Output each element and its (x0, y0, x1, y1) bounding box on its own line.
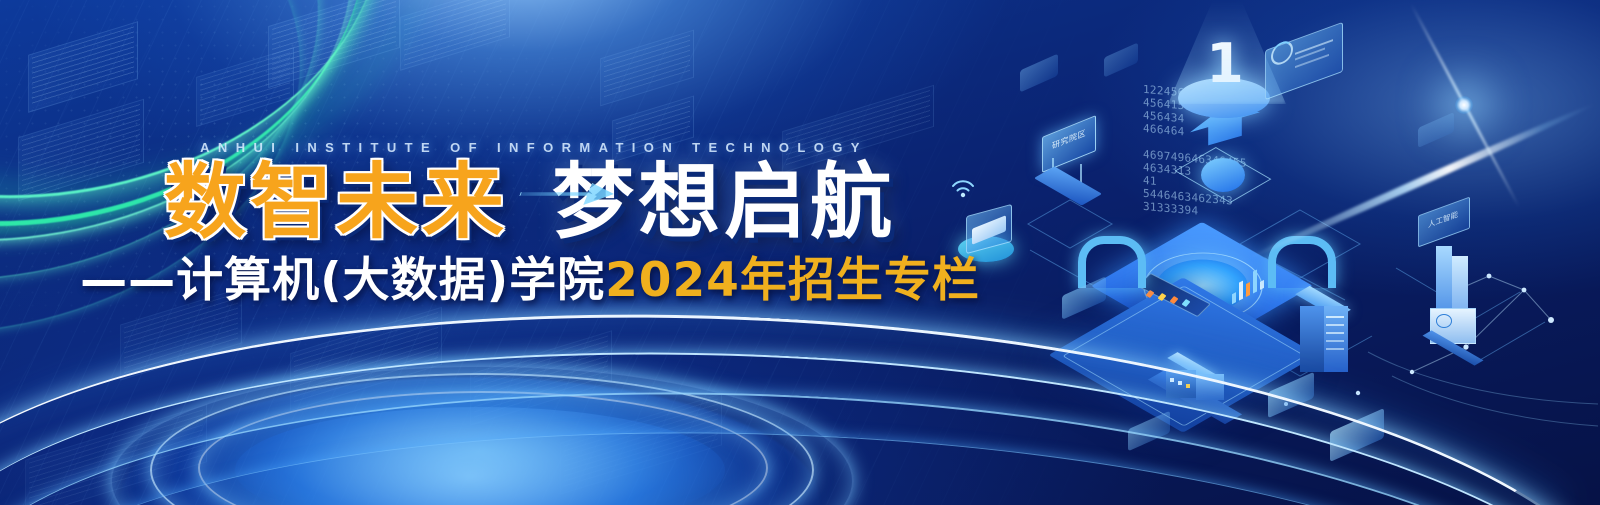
floating-card (1062, 276, 1106, 320)
headline-white: 梦想启航 (552, 155, 896, 250)
stage-inner-disc (235, 407, 725, 505)
flare-streak (1246, 100, 1596, 262)
server-rack-node (1292, 288, 1356, 396)
recruitment-banner: 122456453 456415151327685 456434 466464 … (0, 0, 1600, 505)
subline-year-column: 2024年招生专栏 (605, 253, 980, 308)
subline-department: ——计算机(大数据)学院 (80, 253, 605, 308)
floating-card (1330, 408, 1384, 462)
building-node (1152, 350, 1244, 422)
main-headline: 数智未来梦想启航 (0, 162, 1060, 244)
stage-ring (110, 365, 854, 505)
stage-glow (120, 377, 820, 505)
institute-eyebrow: ANHUI INSTITUTE OF INFORMATION TECHNOLOG… (0, 140, 1060, 155)
floating-card (1268, 372, 1314, 418)
banner-text-block: ANHUI INSTITUTE OF INFORMATION TECHNOLOG… (0, 140, 1060, 304)
signboard-right-label: 人工智能 (1423, 207, 1463, 233)
status-led (1158, 293, 1167, 301)
data-panel (560, 393, 722, 495)
stage-ring (198, 391, 768, 505)
cpu-core-platform (1118, 198, 1308, 318)
status-led-strip (1137, 273, 1211, 317)
flare-cross (1410, 3, 1521, 207)
data-panel (196, 47, 294, 127)
data-stream-digits: 122456453 456415151327685 456434 466464 … (1143, 83, 1263, 223)
database-cylinder-node (1192, 152, 1254, 198)
floating-card (1104, 42, 1138, 77)
pedestal-disc (1178, 78, 1270, 118)
upload-arrow-node (1190, 106, 1260, 154)
stage-ring (150, 373, 814, 505)
sub-headline: ——计算机(大数据)学院2024年招生专栏 (0, 257, 1060, 304)
headline-orange: 数智未来 (164, 155, 508, 250)
chip-bar-chart (1232, 258, 1272, 304)
streak-arc (0, 351, 1600, 505)
data-panel (600, 30, 694, 107)
status-led (1182, 299, 1191, 307)
data-panel (290, 307, 442, 411)
magnet-arc-right (1268, 236, 1336, 288)
data-panel (25, 404, 207, 505)
floating-card (1020, 54, 1058, 93)
tower-node (1422, 246, 1484, 358)
monitor-card-node (1265, 36, 1343, 86)
data-panel (470, 330, 612, 425)
signboard-right: 人工智能 (1418, 206, 1476, 254)
floating-card (1128, 411, 1170, 452)
cpu-base-plate (1090, 262, 1340, 402)
light-beam (1168, 0, 1286, 104)
data-panel (268, 0, 400, 88)
status-led (1146, 290, 1155, 298)
floating-card (1418, 112, 1454, 148)
streak-arc (0, 311, 1600, 505)
streak-arc (0, 392, 1600, 505)
pedestal-number-label: 1 (1200, 36, 1250, 92)
flare-core (1455, 96, 1473, 114)
data-panel (400, 0, 510, 71)
pedestal-number: 1 (1200, 36, 1250, 92)
magnet-arc-left (1078, 236, 1146, 288)
status-led (1170, 296, 1179, 304)
data-panel (28, 21, 138, 113)
